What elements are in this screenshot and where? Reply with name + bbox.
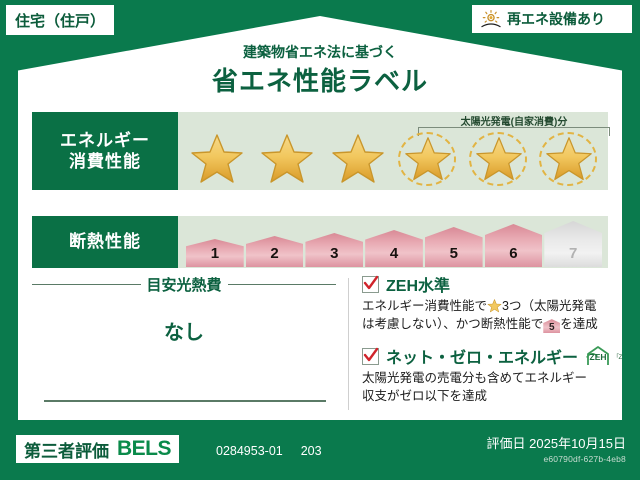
zeh-standard-title: ZEH水準 bbox=[386, 272, 450, 296]
bels-jp-label: 第三者評価 bbox=[24, 437, 109, 462]
solar-contribution-note: 太陽光発電(自家消費)分 bbox=[416, 113, 612, 128]
insulation-grade-4: 4 bbox=[365, 230, 423, 267]
insulation-grade-5: 5 bbox=[425, 227, 483, 267]
zeh-house-icon: ZEH bbox=[585, 345, 611, 367]
energy-label-line1: エネルギー bbox=[60, 130, 150, 151]
star-icon-3 bbox=[327, 130, 389, 188]
energy-performance-label: 住宅（住戸） 再エネ設備あり 建築物省エネ法に基づく 省エネ性能ラベル bbox=[0, 0, 640, 480]
star-icon-2 bbox=[256, 130, 318, 188]
zeh-desc-part2: 3つ（太陽光発電 bbox=[502, 299, 596, 313]
net-zero-description: 太陽光発電の売電分も含めてエネルギー 収支がゼロ以下を達成 bbox=[362, 369, 624, 405]
solar-dash-ring-4 bbox=[398, 132, 456, 186]
insulation-grade-2: 2 bbox=[246, 236, 304, 267]
utility-cost-header: 目安光熱費 bbox=[32, 274, 336, 295]
insulation-performance-row: 断熱性能 1 2 3 4 5 6 7 bbox=[32, 216, 608, 268]
star-icon-5-solar bbox=[468, 130, 530, 188]
energy-label-line2: 消費性能 bbox=[69, 151, 141, 172]
zeh-logo: ZEH 「ZEH」 bbox=[585, 345, 635, 367]
panel-divider bbox=[348, 278, 349, 410]
criteria-net-zero-energy: ネット・ゼロ・エネルギー ZEH 「ZEH」 太陽光発電の売電分も含めてエネルギ… bbox=[362, 346, 624, 405]
document-hash: e60790df-627b-4eb8 bbox=[487, 454, 626, 464]
star-icon-1 bbox=[186, 130, 248, 188]
zeh-standard-description: エネルギー消費性能で3つ（太陽光発電 は考慮しない）、かつ断熱性能で5を達成 bbox=[362, 297, 624, 333]
checkmark-icon bbox=[363, 275, 378, 292]
utility-cost-bottom-rule bbox=[44, 400, 326, 402]
insulation-grade-scale: 1 2 3 4 5 6 7 bbox=[186, 221, 602, 267]
inline-star-icon bbox=[487, 299, 502, 313]
cost-rule-right bbox=[228, 284, 337, 285]
bels-certification-tag: 第三者評価 BELS bbox=[16, 435, 179, 463]
insulation-grade-3: 3 bbox=[305, 233, 363, 267]
evaluation-info: 評価日 2025年10月15日 e60790df-627b-4eb8 bbox=[487, 433, 626, 464]
checkmark-icon bbox=[363, 347, 378, 364]
net-zero-desc-line1: 太陽光発電の売電分も含めてエネルギー bbox=[362, 371, 587, 385]
insulation-performance-label-box: 断熱性能 bbox=[32, 216, 178, 268]
net-zero-title: ネット・ゼロ・エネルギー bbox=[386, 344, 578, 368]
label-card: 建築物省エネ法に基づく 省エネ性能ラベル エネルギー 消費性能 太陽光発電(自家… bbox=[18, 16, 622, 420]
sun-icon bbox=[480, 9, 502, 29]
utility-cost-value: なし bbox=[32, 316, 336, 345]
evaluation-date-label: 評価日 bbox=[487, 436, 526, 451]
solar-dash-ring-5 bbox=[469, 132, 527, 186]
certificate-number: 0284953-01 bbox=[216, 444, 283, 458]
page-title: 省エネ性能ラベル bbox=[18, 61, 622, 98]
energy-rating-panel: 太陽光発電(自家消費)分 bbox=[178, 112, 608, 190]
energy-performance-row: エネルギー 消費性能 太陽光発電(自家消費)分 bbox=[32, 112, 608, 190]
bels-en-label: BELS bbox=[117, 437, 171, 461]
energy-star-rating bbox=[186, 128, 600, 188]
insulation-label: 断熱性能 bbox=[69, 231, 141, 252]
bels-numbers: 0284953-01 203 bbox=[216, 444, 322, 458]
insulation-grade-6: 6 bbox=[485, 224, 543, 267]
zeh-logo-caption: 「ZEH」 bbox=[613, 352, 635, 361]
insulation-grade-1: 1 bbox=[186, 239, 244, 267]
renewable-energy-badge: 再エネ設備あり bbox=[472, 5, 632, 33]
criteria-zeh-standard: ZEH水準 エネルギー消費性能で3つ（太陽光発電 は考慮しない）、かつ断熱性能で… bbox=[362, 274, 624, 333]
insulation-grade-7: 7 bbox=[544, 221, 602, 267]
evaluation-date-line: 評価日 2025年10月15日 bbox=[487, 433, 626, 452]
evaluation-date-value: 2025年10月15日 bbox=[529, 436, 626, 451]
unit-number: 203 bbox=[301, 444, 322, 458]
category-tag: 住宅（住戸） bbox=[6, 5, 114, 35]
inline-insulation-grade-badge: 5 bbox=[543, 319, 560, 333]
insulation-rating-panel: 1 2 3 4 5 6 7 bbox=[178, 216, 608, 268]
energy-performance-label-box: エネルギー 消費性能 bbox=[32, 112, 178, 190]
criteria-net-zero-header: ネット・ゼロ・エネルギー ZEH 「ZEH」 bbox=[362, 346, 624, 366]
label-subtitle: 建築物省エネ法に基づく bbox=[18, 42, 622, 62]
renewable-badge-label: 再エネ設備あり bbox=[507, 9, 605, 29]
net-zero-desc-line2: 収支がゼロ以下を達成 bbox=[362, 389, 487, 403]
zeh-desc-part4: を達成 bbox=[560, 317, 598, 331]
zeh-standard-checkbox[interactable] bbox=[362, 276, 379, 293]
zeh-desc-part1: エネルギー消費性能で bbox=[362, 299, 487, 313]
zeh-desc-part3: は考慮しない）、かつ断熱性能で bbox=[362, 317, 543, 331]
svg-text:ZEH: ZEH bbox=[590, 352, 607, 362]
net-zero-checkbox[interactable] bbox=[362, 348, 379, 365]
star-icon-6-solar bbox=[538, 130, 600, 188]
cost-rule-left bbox=[32, 284, 141, 285]
utility-cost-title: 目安光熱費 bbox=[147, 274, 222, 295]
criteria-zeh-header: ZEH水準 bbox=[362, 274, 624, 294]
solar-dash-ring-6 bbox=[539, 132, 597, 186]
star-icon-4-solar bbox=[397, 130, 459, 188]
